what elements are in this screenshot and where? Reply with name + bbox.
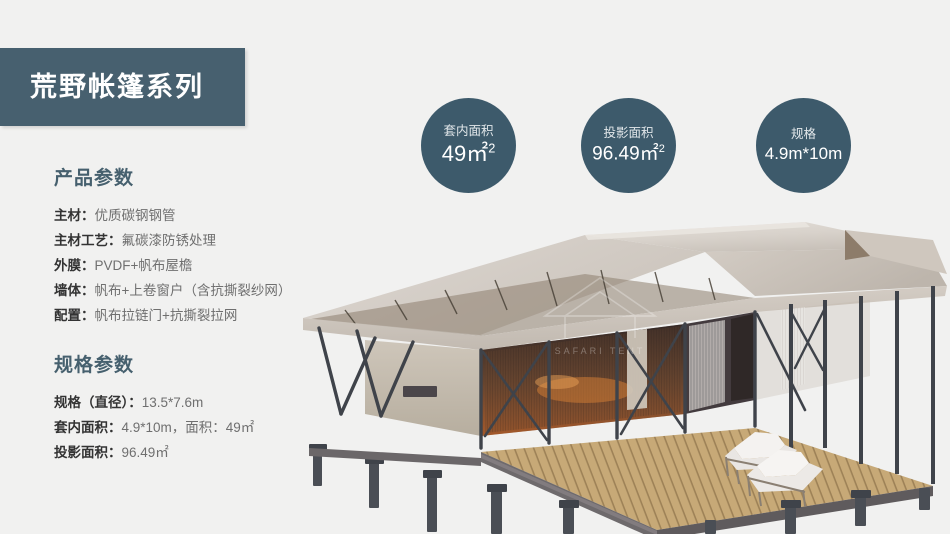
spec-value: 13.5*7.6m: [142, 395, 204, 410]
badge-label: 套内面积: [443, 124, 493, 139]
page-title: 荒野帐篷系列: [30, 74, 204, 101]
spec-value: PVDF+帆布屋檐: [95, 258, 193, 273]
badge-interior-area: 套内面积 49㎡2: [421, 98, 516, 193]
spec-value: 氟碳漆防锈处理: [122, 233, 217, 248]
badge-number: 4.9m*10m: [765, 144, 842, 163]
badge-number: 96.49: [592, 143, 640, 164]
badge-value: 49㎡2: [442, 141, 496, 166]
spec-label: 主材：: [54, 208, 95, 223]
badge-superscript: 2: [659, 143, 665, 155]
spec-value: 4.9*10m，面积：49㎡: [122, 420, 255, 435]
spec-value: 优质碳钢钢管: [95, 208, 176, 223]
badge-unit: ㎡: [466, 141, 488, 166]
badge-dimensions: 规格 4.9m*10m: [756, 98, 851, 193]
spec-value: 帆布拉链门+抗撕裂拉网: [95, 308, 238, 323]
spec-value: 帆布+上卷窗户（含抗撕裂纱网）: [95, 283, 292, 298]
spec-label: 配置：: [54, 308, 95, 323]
badge-unit: ㎡: [640, 143, 659, 164]
spec-label: 规格（直径）：: [54, 395, 142, 410]
badge-label: 规格: [791, 127, 816, 142]
spec-label: 投影面积：: [54, 445, 122, 460]
spec-label: 墙体：: [54, 283, 95, 298]
slide-canvas: 荒野帐篷系列 产品参数 主材：优质碳钢钢管 主材工艺：氟碳漆防锈处理 外膜：PV…: [0, 0, 950, 534]
product-parameters-heading: 产品参数: [54, 168, 354, 191]
spec-label: 套内面积：: [54, 420, 122, 435]
spec-label: 主材工艺：: [54, 233, 122, 248]
spec-value: 96.49㎡: [122, 445, 169, 460]
product-render-image: [285, 200, 950, 534]
badge-number: 49: [442, 141, 466, 166]
title-banner: 荒野帐篷系列: [0, 48, 245, 126]
badge-projected-area: 投影面积 96.49㎡2: [581, 98, 676, 193]
badge-superscript: 2: [488, 141, 495, 156]
badge-label: 投影面积: [603, 126, 653, 141]
badge-value: 4.9m*10m: [765, 144, 842, 164]
badge-value: 96.49㎡2: [592, 143, 665, 165]
spec-label: 外膜：: [54, 258, 95, 273]
